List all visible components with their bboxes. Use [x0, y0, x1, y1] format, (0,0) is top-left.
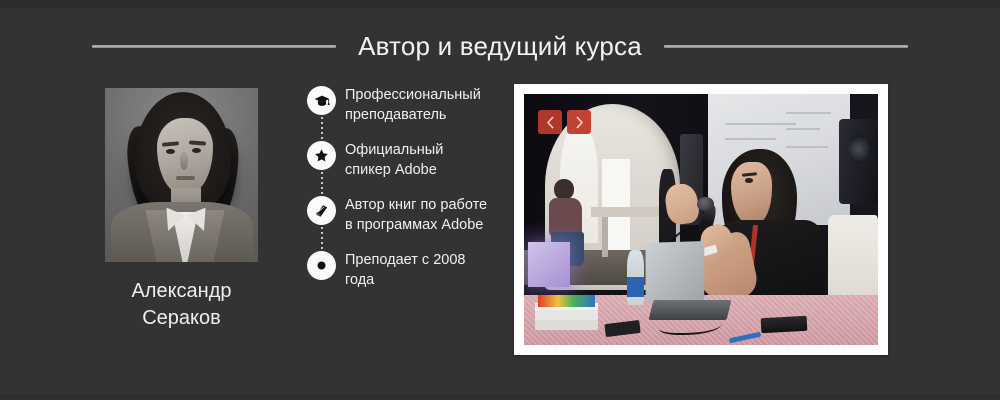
scene-table-leg — [602, 217, 608, 257]
scene-phone — [761, 316, 808, 333]
portrait-mouth — [176, 176, 195, 180]
book-icon — [307, 196, 336, 225]
author-card: Александр Сераков — [105, 88, 258, 332]
slide-root: Автор и ведущий курса Александр Сераков — [0, 0, 1000, 400]
list-item: Профессиональный преподаватель — [307, 84, 502, 139]
list-item: Преподает с 2008 года — [307, 249, 502, 304]
list-item: Автор книг по работе в программах Adobe — [307, 194, 502, 249]
dot-icon — [307, 251, 336, 280]
gallery-next-button[interactable] — [567, 110, 591, 134]
chevron-right-icon — [575, 116, 584, 129]
portrait-nose — [180, 152, 188, 170]
feature-text: Профессиональный преподаватель — [345, 84, 481, 125]
chevron-left-icon — [546, 116, 555, 129]
title-rule-left — [92, 45, 336, 48]
graduation-cap-icon — [307, 86, 336, 115]
list-item: Официальный спикер Adobe — [307, 139, 502, 194]
scene-laptop-screen — [646, 241, 705, 303]
feature-text: Преподает с 2008 года — [345, 249, 465, 290]
feature-text: Автор книг по работе в программах Adobe — [345, 194, 487, 235]
author-portrait-image — [105, 88, 258, 262]
star-icon — [307, 141, 336, 170]
bottom-edge-strip — [0, 395, 1000, 400]
title-rule-right — [664, 45, 908, 48]
section-header: Автор и ведущий курса — [0, 26, 1000, 66]
scene-bottle-label — [627, 277, 645, 297]
gallery-nav — [538, 110, 591, 134]
portrait-eye-right — [192, 148, 201, 153]
scene-glowing-cube — [528, 242, 570, 287]
feature-connector — [321, 172, 323, 196]
page-title: Автор и ведущий курса — [358, 33, 642, 59]
feature-connector — [321, 227, 323, 251]
gallery-photo-frame — [514, 84, 888, 355]
author-name: Александр Сераков — [105, 278, 258, 332]
speaker-face — [731, 162, 772, 225]
speaker-eye — [745, 178, 753, 183]
microphone-head — [697, 197, 713, 211]
scene-book-cover — [538, 295, 595, 308]
feature-text: Официальный спикер Adobe — [345, 139, 443, 180]
gallery-prev-button[interactable] — [538, 110, 562, 134]
top-edge-strip — [0, 0, 1000, 8]
feature-list: Профессиональный преподаватель Официальн… — [307, 84, 502, 304]
gallery-photo-image — [524, 94, 878, 345]
feature-connector — [321, 117, 323, 141]
portrait-eye-left — [166, 149, 175, 154]
scene-chair — [828, 215, 878, 300]
